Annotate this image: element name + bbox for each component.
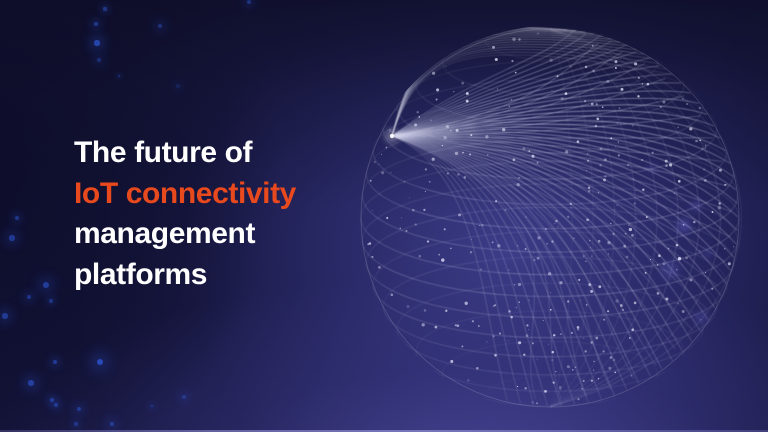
particle-dot <box>176 84 180 88</box>
slide-canvas: The future ofIoT connectivitymanagementp… <box>0 0 768 432</box>
particle-dot <box>94 40 99 45</box>
particle-dot <box>94 22 98 26</box>
particle-dot <box>27 295 31 299</box>
headline-line-3: management <box>74 214 364 255</box>
page-title: The future ofIoT connectivitymanagementp… <box>74 133 364 295</box>
particle-dot <box>43 282 49 288</box>
particle-dot <box>2 313 7 318</box>
particle-dot <box>74 422 77 425</box>
particle-dot <box>118 75 120 77</box>
headline-line-1: The future of <box>74 133 364 174</box>
particle-dot <box>97 359 104 366</box>
particle-dot <box>110 422 115 427</box>
headline-line-2: IoT connectivity <box>74 174 364 215</box>
particle-dot <box>103 7 106 10</box>
particle-dot <box>9 235 14 240</box>
particle-dot <box>15 216 19 220</box>
particle-dot <box>158 24 163 29</box>
particle-dot <box>50 398 54 402</box>
wireframe-globe-graphic <box>352 18 752 418</box>
globe-svg <box>352 18 752 418</box>
particle-dot <box>77 407 81 411</box>
headline-line-4: platforms <box>74 255 364 296</box>
particle-dot <box>151 405 154 408</box>
globe-convergence-node <box>385 129 399 143</box>
particle-dot <box>28 380 34 386</box>
particle-dot <box>97 58 101 62</box>
particle-dot <box>49 299 52 302</box>
particle-dot <box>54 403 58 407</box>
particle-dot <box>53 360 57 364</box>
particle-dot <box>182 395 186 399</box>
particle-dot <box>247 0 251 4</box>
